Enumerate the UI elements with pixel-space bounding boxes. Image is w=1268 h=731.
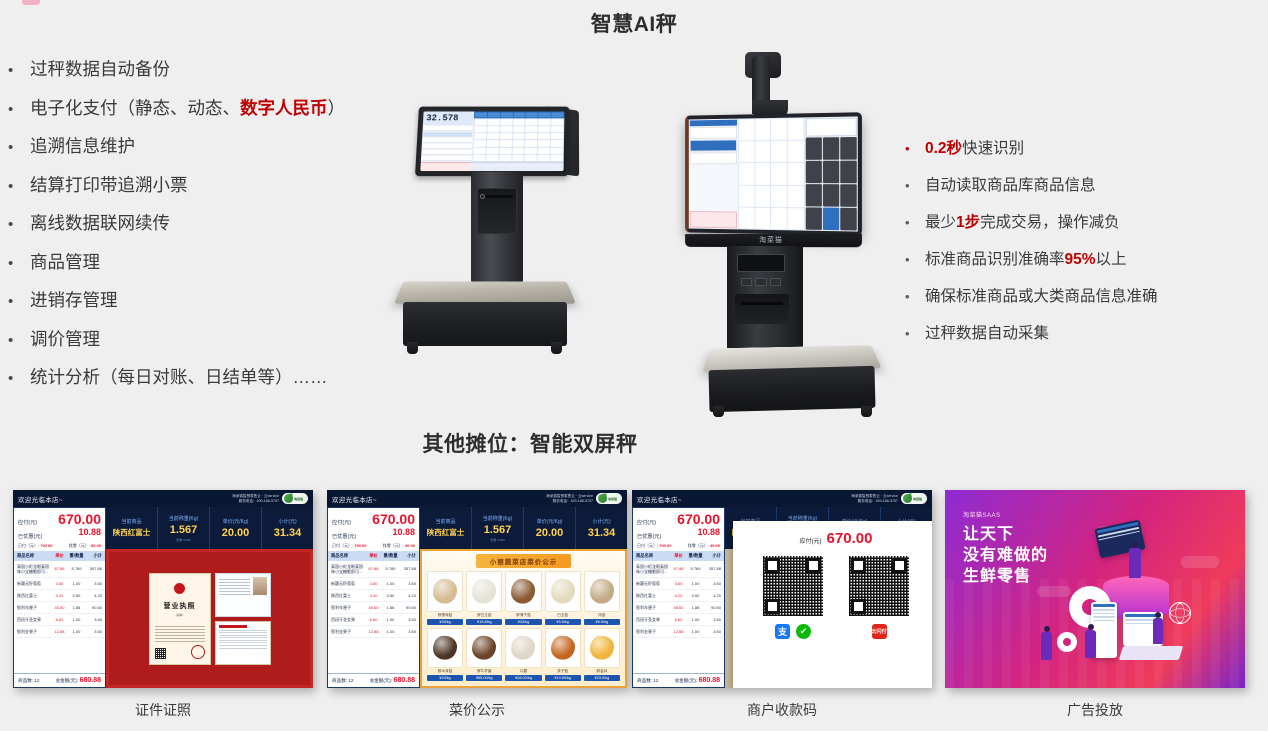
ai-scale-foot [713,406,724,417]
pos-stat-value: 陕西红富士 [427,527,465,538]
ai-feature-label: 0.2秒快速识别 [925,136,1265,158]
pos-header: 欢迎光临本店~ 海深猫智慧零售云 · 云service 服务电话：400-188… [327,490,627,507]
pos-cell: 357.88 [85,566,102,571]
pos-stat-value: 31.34 [274,527,302,539]
scale-category-tab [475,112,487,117]
scale-product-tile [525,148,537,154]
ai-scale-photo: 淘菜猫 [655,56,895,426]
payment-group-left: 支 ✔ [763,624,823,639]
pos-content-panel: 当前商品陕西红富士当前称重(Kg)1.567皮重 0.000单价(元/Kg)20… [106,507,313,688]
bullet-dot-icon: • [905,142,925,155]
pos-cell: 90.60 [85,605,102,610]
scale-product-tile [500,119,512,125]
ai-scale-display [685,112,862,236]
scale-product-tile [513,119,525,125]
table-row[interactable]: 泰国小柜龙眼泰国味小宝糖脆即可...67.885.789357.88 [328,561,419,578]
certificate-side-stack [215,573,271,665]
bullet-dot-icon: • [8,256,30,271]
pos-cell: 新疆无籽葡萄 [636,581,670,586]
price-board-item: 茶子菇¥10.80/kg [545,628,581,682]
scale-total-bar [420,162,472,171]
table-row[interactable]: 智利车厘子45.601.8890.60 [328,602,419,614]
pos-payable-label: 应付(元) [637,519,656,526]
highlight-text: 0.2秒 [925,140,962,157]
pos-welcome-text: 欢迎光临本店~ [332,494,377,504]
pos-brand-line-1: 海深猫智慧零售云 · 云service [232,494,279,499]
gear-hole [1063,638,1071,646]
pos-table-footer: 商品数: 12总金额(元): 680.88 [633,673,724,687]
table-row[interactable]: 陕西红富士4.200.504.20 [328,590,419,602]
pos-welcome-text: 欢迎光临本店~ [18,494,63,504]
id-card-document [215,573,271,617]
vegetable-photo [427,628,463,669]
vegetable-price: ¥9.5/kg [545,619,581,625]
ai-price-display [806,117,857,136]
scale-product-tile [512,148,524,154]
pos-cell: 智利金果子 [636,629,670,634]
pos-cell: 1.00 [382,617,399,622]
pos-cell: 12.88 [365,629,382,634]
scale-product-tile [551,126,563,132]
feature-label: 结算打印带追溯小票 [30,172,428,197]
pos-brand-lines: 海深猫智慧零售云 · 云service 服务电话：400-188-5757 [851,494,898,504]
pos-table-header: 商品名称单价重/数量小计 [633,551,724,561]
pos-stat-cell: 单价(元/Kg)20.00 [523,507,575,549]
ai-product-tile [755,141,771,162]
table-row[interactable]: 智利车厘子45.601.8890.60 [633,602,724,614]
pos-discount-label: 已优惠(元) [18,533,42,540]
table-row[interactable]: 智利车厘子45.601.8890.60 [14,602,105,614]
vegetable-price: ¥10.80/kg [545,675,581,681]
id-card-lines [219,577,250,613]
ai-product-grid [738,117,806,230]
ai-product-tile [755,186,771,207]
pos-cell: 3.60 [85,617,102,622]
pos-cell: 泰国小柜龙眼泰国味小宝糖脆即可... [331,564,365,574]
pos-paid-change-row: 已付（元）: 700.00找零（元）: 30.00 [637,543,720,549]
price-board-item: 鲜木耳菇¥23/kg [427,628,463,682]
price-board-item: 白玉菇¥9.5/kg [545,571,581,625]
scale-item-rows [421,125,474,162]
vegetable-price: ¥16.8/kg [466,619,502,625]
table-row[interactable]: 新疆无籽葡萄3.601.003.60 [328,578,419,590]
ai-feature-item: •确保标准商品或大类商品信息准确 [905,284,1265,321]
pos-stat-cell: 当前称重(Kg)1.567皮重 0.000 [471,507,523,549]
pos-column-header: 商品名称 [331,553,365,559]
bullet-dot-icon: • [905,216,925,229]
pos-stat-label: 当前商品 [121,518,141,525]
vegetable-photo [505,571,541,612]
pos-cell: 4.20 [399,593,416,598]
pos-cell: 6.60 [365,617,382,622]
ai-product-tile [739,185,754,206]
scale-product-tile [551,119,563,125]
pos-stat-value: 20.00 [222,527,250,539]
ai-feature-item: •自动读取商品库商品信息 [905,173,1265,210]
pos-cell: 0.50 [687,593,704,598]
scale-product-tile [486,155,498,161]
pos-cell: 1.00 [687,581,704,586]
scale-product-tile [538,148,550,154]
ai-keypad-key [806,207,822,230]
table-row[interactable]: 智利金果子12.881.003.60 [633,626,724,638]
pos-logo: 淘菜猫 [282,493,308,504]
ai-scale-foot [861,406,872,417]
scale-item-row [423,138,472,143]
scale-product-tile [512,155,524,161]
pos-logo-text: 淘菜猫 [913,497,922,501]
table-row[interactable]: 智利金果子12.881.003.60 [14,626,105,638]
pos-cell: 4.20 [704,593,721,598]
ai-numeric-keypad [806,137,857,231]
scale-item-row [423,132,472,137]
pos-cell: 3.60 [399,617,416,622]
scale-product-tile [539,119,551,125]
pos-discount-row: 已优惠(元)10.88 [18,526,101,540]
wechat-pay-icon: ✔ [796,624,811,639]
scale-item-row [422,150,472,155]
payment-method-icons: 支 ✔ 云闪付 [763,624,909,639]
pos-paid: 已付（元）: 700.00 [332,543,366,549]
ai-ticket-pane [689,119,738,230]
scale-product-tile [526,126,538,132]
pos-cell: 3.60 [670,581,687,586]
highlight-text: 1步 [956,214,980,231]
scale-product-tile [473,155,485,161]
pos-cell: 4.20 [85,593,102,598]
gallery-item-price-board[interactable]: 欢迎光临本店~ 海深猫智慧零售云 · 云service 服务电话：400-188… [327,490,627,720]
ai-keypad-key [840,137,856,160]
pos-column-header: 单价 [365,553,382,559]
left-feature-list: •过秤数据自动备份•电子化支付（静态、动态、数字人民币）•追溯信息维护•结算打印… [8,56,428,403]
ai-product-tile [771,119,787,140]
payment-group-right: 云闪付 [849,624,909,639]
pos-cell: 12.88 [51,629,68,634]
pos-header: 欢迎光临本店~ 海深猫智慧零售云 · 云service 服务电话：400-188… [13,490,313,507]
pos-cell: 4.20 [51,593,68,598]
feature-item: •调价管理 [8,326,428,365]
screenshot-price-board: 欢迎光临本店~ 海深猫智慧零售云 · 云service 服务电话：400-188… [327,490,627,688]
pos-payable-label: 应付(元) [18,519,37,526]
pos-paid: 已付（元）: 700.00 [637,543,671,549]
scale-product-tile [499,155,511,161]
pos-item-count: 商品数: 12 [18,678,39,684]
ai-ticket-item [690,152,737,164]
feature-label: 统计分析（每日对账、日结单等）…… [30,364,428,389]
scale-category-tab [513,112,525,117]
gallery-caption: 菜价公示 [327,700,627,720]
scale-product-tile [486,148,498,154]
pos-cell: 泰国小柜龙眼泰国味小宝糖脆即可... [636,564,670,574]
scale-product-tile [474,140,486,146]
pos-stat-label: 当前称重(Kg) [169,515,198,522]
pos-cell: 3.60 [51,581,68,586]
vegetable-price: ¥28/kg [427,619,463,625]
price-board-item: 鲜滑子菇¥33/kg [505,571,541,625]
vegetable-photo [427,571,463,612]
ai-product-tile [788,186,804,207]
pos-welcome-text: 欢迎光临本店~ [637,494,682,504]
pos-stat-cell: 当前称重(Kg)1.567皮重 0.000 [157,507,209,549]
vegetable-name: 茶子菇 [557,669,568,674]
pos-amount-block: 应付(元)670.00已优惠(元)10.88已付（元）: 700.00找零（元）… [328,508,419,551]
scale-product-tile [538,155,550,161]
ad-headline-line: 让天下 [963,524,1048,545]
scale-category-tab [526,112,538,117]
pos-logo: 淘菜猫 [901,493,927,504]
ai-product-tile [739,119,754,140]
scale-product-tile [500,133,512,139]
gallery-item-advertising[interactable]: 淘菜猫SAAS 让天下没有难做的生鲜零售 [945,490,1245,720]
ai-keypad-pane [805,116,858,231]
pos-stage-price-board: 小丽蔬菜店菜价公示 鲜蟹味菇¥28/kg鲜白玉菇¥16.8/kg鲜滑子菇¥33/… [420,549,627,688]
price-board-item: 口蘑¥28.00/kg [505,628,541,682]
pos-brand-line-1: 海深猫智慧零售云 · 云service [851,494,898,499]
pos-cell: 67.88 [51,566,68,571]
pos-cell: 12.88 [670,629,687,634]
ai-feature-item: •过秤数据自动采集 [905,321,1265,358]
feature-label: 进销存管理 [30,287,428,312]
pos-stat-note: 皮重 0.000 [490,538,504,542]
feature-label: 商品管理 [30,249,428,274]
pos-table-footer: 商品数: 12总金额(元): 680.88 [328,673,419,687]
pos-stats-bar: 当前商品陕西红富士当前称重(Kg)1.567皮重 0.000单价(元/Kg)20… [420,507,627,549]
gallery-caption: 证件证照 [13,700,313,720]
pos-cell: 4.20 [365,593,382,598]
pos-stat-label: 单价(元/Kg) [537,518,563,525]
cloud-decor [1037,586,1071,597]
pos-paid: 已付（元）: 700.00 [18,543,52,549]
ai-feature-label: 确保标准商品或大类商品信息准确 [925,284,1265,306]
pos-change: 找零（元）: 30.00 [383,543,415,549]
scale-product-tile [500,140,512,146]
screenshot-gallery: 欢迎光临本店~ 海深猫智慧零售云 · 云service 服务电话：400-188… [0,490,1268,731]
scale-product-tile [487,126,499,132]
pos-table-footer: 商品数: 12总金额(元): 680.88 [14,673,105,687]
pos-stat-value: 陕西红富士 [113,527,151,538]
pos-body: 应付(元)670.00已优惠(元)10.88已付（元）: 700.00找零（元）… [13,507,313,688]
pos-column-header: 小计 [399,553,416,559]
pos-screen: 欢迎光临本店~ 海深猫智慧零售云 · 云service 服务电话：400-188… [13,490,313,688]
pos-cell: 1.00 [382,581,399,586]
table-row[interactable]: 智利金果子12.881.003.60 [328,626,419,638]
vegetable-shape [433,635,457,660]
pos-table-body: 泰国小柜龙眼泰国味小宝糖脆即可...67.885.789357.88新疆无籽葡萄… [633,561,724,674]
bullet-dot-icon: • [8,63,30,78]
pos-payable-label: 应付(元) [332,519,351,526]
ai-keypad-key [806,184,822,206]
pos-cell: 智利车厘子 [17,605,51,610]
ai-product-tile [755,163,771,184]
table-row[interactable]: 西班牙圣女果6.601.003.60 [14,614,105,626]
pos-body: 应付(元)670.00已优惠(元)10.88已付（元）: 700.00找零（元）… [632,507,932,688]
scale-product-tile [538,140,550,146]
section-subtitle: 其他摊位：智能双屏秤 [330,428,730,458]
vegetable-photo [545,571,581,612]
pos-discount-label: 已优惠(元) [637,533,661,540]
qr-code-unionpay[interactable] [849,556,909,616]
pos-table-body: 泰国小柜龙眼泰国味小宝糖脆即可...67.885.789357.88新疆无籽葡萄… [14,561,105,674]
pos-cell: 67.88 [365,566,382,571]
scale-product-tile [475,119,487,125]
vegetable-name: 鲜蟹味菇 [438,613,452,618]
pos-column-header: 单价 [51,553,68,559]
pos-stat-label: 当前称重(Kg) [483,515,512,522]
payment-amount-value: 670.00 [827,530,873,547]
feature-item: •离线数据联网续传 [8,210,428,249]
highlight-text: 数字人民币 [240,98,328,118]
pos-content-panel: 当前商品陕西红富士当前称重(Kg)1.567皮重 0.000单价(元/Kg)20… [725,507,932,688]
pos-cell: 新疆无籽葡萄 [17,581,51,586]
pos-brand-line-2: 服务电话：400-188-5757 [851,499,898,504]
pos-stat-label: 小计(元) [592,518,610,525]
pos-logo: 淘菜猫 [596,493,622,504]
price-board-title: 小丽蔬菜店菜价公示 [476,554,572,568]
ad-headline-line: 没有难做的 [963,545,1048,566]
scale-product-tile [526,119,538,125]
ad-person-decor [1041,632,1052,660]
feature-label: 过秤数据自动备份 [30,56,428,81]
pos-payable-row: 应付(元)670.00 [18,512,101,526]
gallery-caption: 广告投放 [945,700,1245,720]
pos-table-header: 商品名称单价重/数量小计 [14,551,105,561]
feature-item: •商品管理 [8,249,428,288]
id-portrait-photo [253,577,267,595]
pos-brand-lines: 海深猫智慧零售云 · 云service 服务电话：400-188-5757 [546,494,593,504]
vegetable-name: 肉菇 [598,613,605,618]
ad-brand-logo: 淘菜猫SAAS [963,510,1001,519]
certificate-wall: 营业执照 （副本） [106,549,313,688]
scale-product-tile [512,140,524,146]
pos-column-header: 重/数量 [68,553,85,559]
scale-category-tab [539,112,551,117]
gallery-caption: 商户收款码 [632,700,932,720]
scale-product-tile [551,140,563,146]
scale-ticket-pane: 32.578 [420,111,474,171]
ai-keypad-key [806,161,822,183]
scale-product-tile [525,140,537,146]
pos-column-header: 商品名称 [17,553,51,559]
pos-payable-value: 670.00 [372,512,415,526]
pos-discount-value: 10.88 [78,526,101,540]
pos-cell: 90.60 [704,605,721,610]
scale-screen-ui: 32.578 [420,111,564,171]
vegetable-photo [545,628,581,669]
price-board-grid: 鲜蟹味菇¥28/kg鲜白玉菇¥16.8/kg鲜滑子菇¥33/kg白玉菇¥9.5/… [425,568,622,683]
gallery-item-certificates[interactable]: 欢迎光临本店~ 海深猫智慧零售云 · 云service 服务电话：400-188… [13,490,313,720]
table-row[interactable]: 陕西红富士4.200.504.20 [14,590,105,602]
qr-code-row [763,556,909,616]
scale-foot [551,342,562,354]
pos-cell: 6.60 [670,617,687,622]
pos-total: 总金额(元): 680.88 [370,677,415,684]
ai-keypad-key [840,184,856,207]
pos-stage-payment: 应付(元) 670.00 [725,549,932,688]
gallery-item-payment-qr[interactable]: 欢迎光临本店~ 海深猫智慧零售云 · 云service 服务电话：400-188… [632,490,932,720]
vegetable-price: ¥33/kg [505,619,541,625]
pos-brand-line-1: 海深猫智慧零售云 · 云service [546,494,593,499]
pos-stage-certificates: 营业执照 （副本） [106,549,313,688]
ad-headline: 让天下没有难做的生鲜零售 [963,524,1048,587]
pos-brand-block: 海深猫智慧零售云 · 云service 服务电话：400-188-5757 淘菜… [232,493,308,504]
scale-category-tab [552,112,564,117]
pos-cell: 3.60 [85,581,102,586]
pos-brand-block: 海深猫智慧零售云 · 云service 服务电话：400-188-5757 淘菜… [546,493,622,504]
cloud-decor [1181,556,1219,568]
qr-code-alipay-wechat[interactable] [763,556,823,616]
ai-feature-item: •最少1步完成交易，操作减负 [905,210,1265,247]
pos-stats-bar: 当前商品陕西红富士当前称重(Kg)1.567皮重 0.000单价(元/Kg)20… [106,507,313,549]
table-row[interactable]: 陕西红富士4.200.504.20 [633,590,724,602]
ai-ticket-item [690,139,737,151]
pos-stat-cell: 当前商品陕西红富士 [420,507,471,549]
gear-icon [1057,632,1077,652]
scale-foot [407,342,418,354]
table-row[interactable]: 新疆无籽葡萄3.601.003.60 [633,578,724,590]
pos-cell: 智利金果子 [331,629,365,634]
pos-logo-text: 淘菜猫 [608,497,617,501]
pos-amount-block: 应付(元)670.00已优惠(元)10.88已付（元）: 700.00找零（元）… [633,508,724,551]
table-row[interactable]: 西班牙圣女果6.601.003.60 [633,614,724,626]
bullet-dot-icon: • [8,371,30,386]
pos-cell: 1.88 [687,605,704,610]
pos-cell: 45.60 [670,605,687,610]
pos-stat-value: 20.00 [536,527,564,539]
ai-product-tile [771,186,787,207]
food-permit-document [215,621,271,665]
pos-cell: 智利车厘子 [636,605,670,610]
scale-category-tabs [474,111,564,118]
vegetable-photo [505,628,541,669]
scale-product-tile [487,133,499,139]
table-row[interactable]: 泰国小柜龙眼泰国味小宝糖脆即可...67.885.789357.88 [14,561,105,578]
ai-product-tile [788,208,804,230]
scale-product-tile [551,155,563,161]
pos-stat-cell: 小计(元)31.34 [575,507,627,549]
license-body-lines [155,624,205,644]
scale-product-tile [474,148,486,154]
pos-cell: 3.60 [704,617,721,622]
vegetable-photo [584,571,620,612]
pos-content-panel: 当前商品陕西红富士当前称重(Kg)1.567皮重 0.000单价(元/Kg)20… [420,507,627,688]
pos-cell: 智利车厘子 [331,605,365,610]
pos-stat-cell: 小计(元)31.34 [261,507,313,549]
pos-paid-change-row: 已付（元）: 700.00找零（元）: 30.00 [332,543,415,549]
pos-ticket-panel: 应付(元)670.00已优惠(元)10.88已付（元）: 700.00找零（元）… [327,507,420,688]
pos-discount-value: 10.88 [392,526,415,540]
vegetable-photo [466,628,502,669]
scale-product-tile [513,126,525,132]
feature-item: •电子化支付（静态、动态、数字人民币） [8,95,428,134]
pos-cell: 陕西红富士 [636,593,670,598]
license-subtitle: （副本） [174,613,184,617]
pos-cell: 357.88 [704,566,721,571]
table-row[interactable]: 新疆无籽葡萄3.601.003.60 [14,578,105,590]
pos-cell: 45.60 [51,605,68,610]
table-row[interactable]: 泰国小柜龙眼泰国味小宝糖脆即可...67.885.789357.88 [633,561,724,578]
ai-keypad-key [840,208,856,231]
bullet-dot-icon: • [905,327,925,340]
pos-payable-row: 应付(元)670.00 [637,512,720,526]
screenshot-certificates: 欢迎光临本店~ 海深猫智慧零售云 · 云service 服务电话：400-188… [13,490,313,688]
pos-cell: 西班牙圣女果 [331,617,365,622]
pos-brand-block: 海深猫智慧零售云 · 云service 服务电话：400-188-5757 淘菜… [851,493,927,504]
vegetable-price: ¥55.00/kg [466,675,502,681]
vegetable-shape [512,635,536,660]
pos-ticket-panel: 应付(元)670.00已优惠(元)10.88已付（元）: 700.00找零（元）… [632,507,725,688]
pos-stat-value: 1.567 [170,524,198,536]
table-row[interactable]: 西班牙圣女果6.601.003.60 [328,614,419,626]
